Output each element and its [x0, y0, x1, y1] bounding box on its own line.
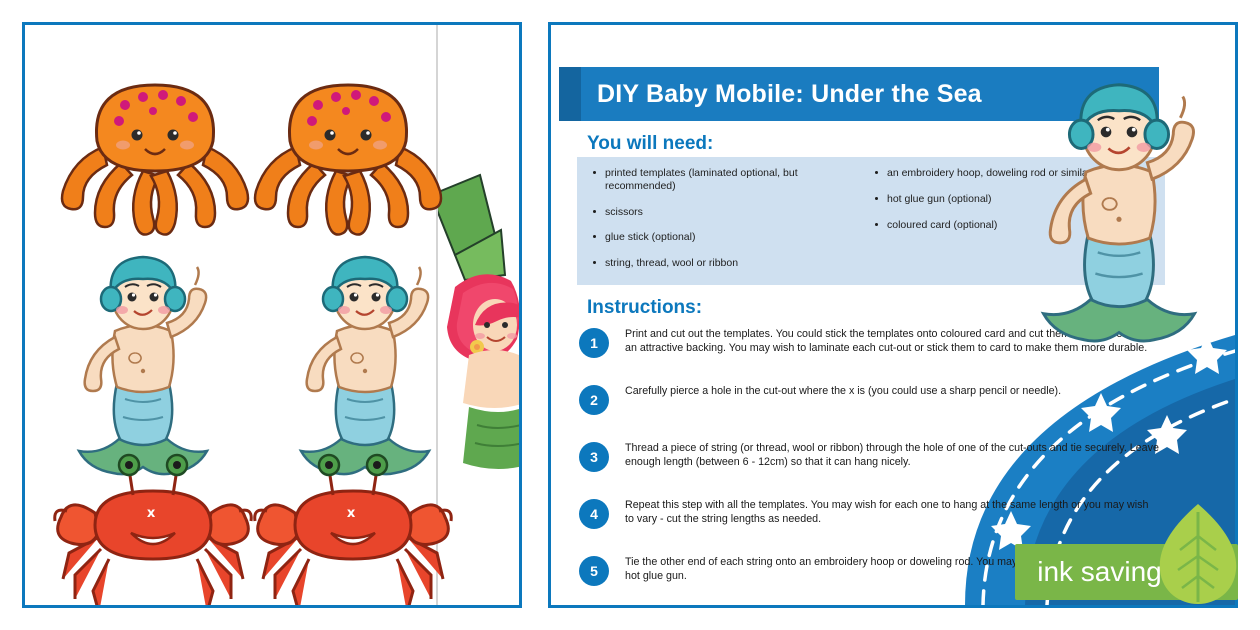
- step-text: Carefully pierce a hole in the cut-out w…: [625, 382, 1159, 398]
- material-item: scissors: [591, 206, 859, 219]
- eco-label: ink saving: [1037, 556, 1162, 588]
- template-preview-page[interactable]: x: [22, 22, 522, 608]
- screenshot-root: x: [0, 0, 1260, 630]
- step-text: Repeat this step with all the templates.…: [625, 496, 1159, 526]
- instruction-step: 3 Thread a piece of string (or thread, w…: [579, 439, 1159, 491]
- resource-document[interactable]: DIY Baby Mobile: Under the Sea You will …: [548, 22, 1238, 608]
- instructions-heading: Instructions:: [587, 297, 702, 319]
- material-item: printed templates (laminated optional, b…: [591, 167, 859, 193]
- title-accent-block: [559, 67, 581, 121]
- leaf-icon: [1152, 502, 1244, 606]
- step-number: 5: [579, 556, 609, 586]
- step-number: 3: [579, 442, 609, 472]
- template-preview-artwork: x: [25, 25, 519, 605]
- page-title: DIY Baby Mobile: Under the Sea: [597, 80, 982, 109]
- step-number: 2: [579, 385, 609, 415]
- material-item: string, thread, wool or ribbon: [591, 257, 859, 270]
- instruction-step: 2 Carefully pierce a hole in the cut-out…: [579, 382, 1159, 434]
- you-will-need-heading: You will need:: [587, 133, 713, 155]
- ink-saving-eco-badge: ink saving Eco: [1015, 544, 1238, 600]
- step-number: 4: [579, 499, 609, 529]
- material-item: glue stick (optional): [591, 231, 859, 244]
- document-body: DIY Baby Mobile: Under the Sea You will …: [551, 25, 1235, 605]
- instruction-step: 4 Repeat this step with all the template…: [579, 496, 1159, 548]
- step-text: Thread a piece of string (or thread, woo…: [625, 439, 1159, 469]
- svg-text:x: x: [147, 506, 156, 521]
- materials-column-left: printed templates (laminated optional, b…: [591, 167, 859, 279]
- step-number: 1: [579, 328, 609, 358]
- preview-illustration: x: [25, 25, 519, 605]
- merboy-illustration: [1027, 55, 1217, 365]
